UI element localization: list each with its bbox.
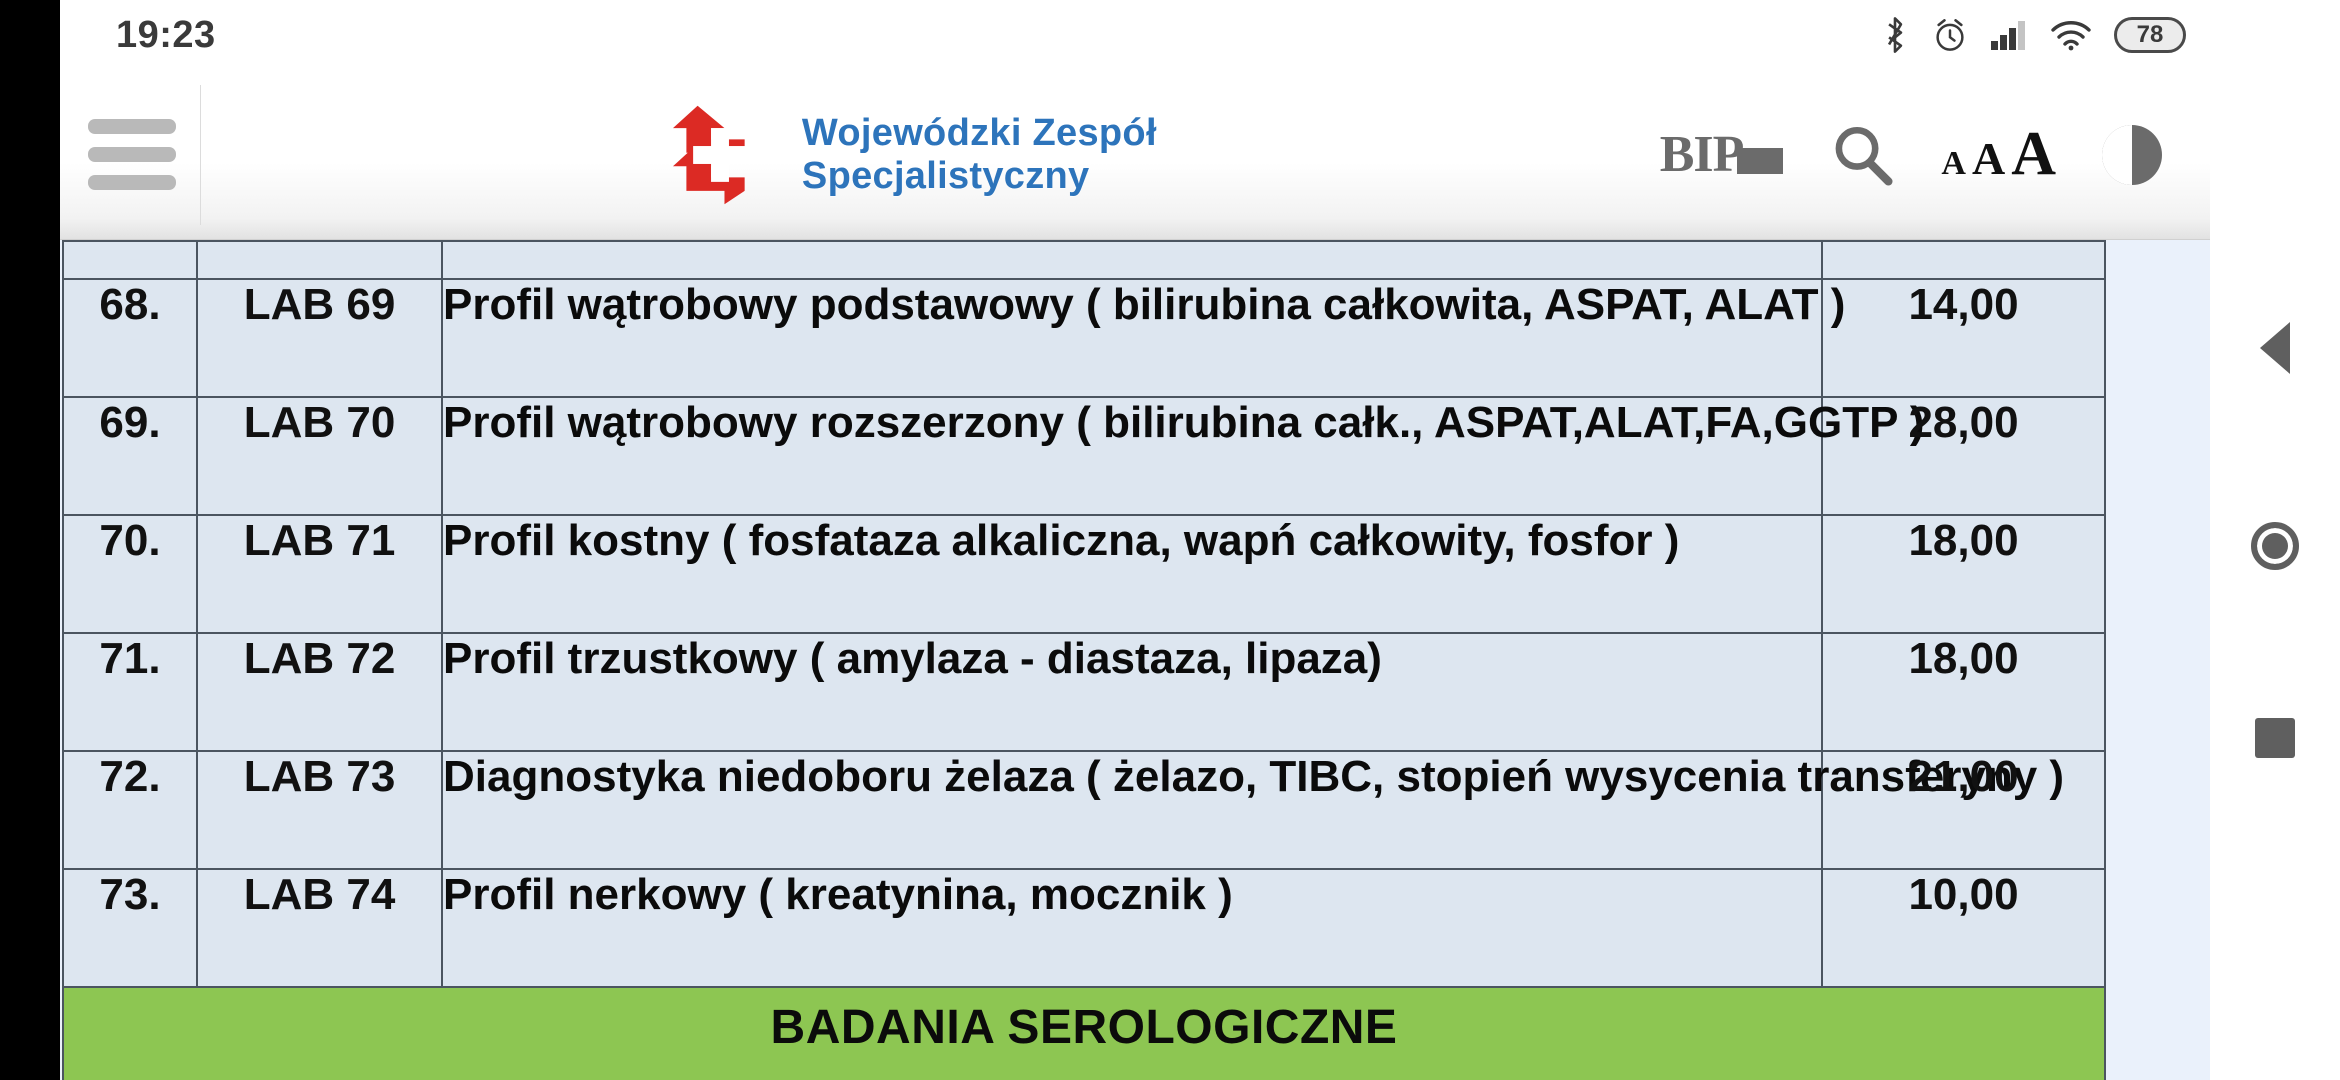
cell-cena: 10,00 [1822, 869, 2105, 987]
table-row[interactable]: 69. LAB 70 Profil wątrobowy rozszerzony … [63, 397, 2105, 515]
font-size-medium-button[interactable]: A [1972, 132, 2005, 185]
wifi-icon [2050, 19, 2092, 51]
cell-lp: 70. [63, 515, 197, 633]
cell-nazwa: Profil wątrobowy podstawowy ( bilirubina… [442, 279, 1822, 397]
status-clock: 19:23 [116, 14, 216, 57]
table-section-header: BADANIA SEROLOGICZNE [63, 987, 2105, 1080]
price-table-area: 68. LAB 69 Profil wątrobowy podstawowy (… [60, 240, 2210, 1080]
battery-icon: 78 [2114, 17, 2186, 53]
cell-cena: 14,00 [1822, 279, 2105, 397]
cell-kod: LAB 72 [197, 633, 442, 751]
bluetooth-icon [1880, 16, 1910, 54]
cell-kod: LAB 71 [197, 515, 442, 633]
cell-lp: 71. [63, 633, 197, 751]
cell-cena: 18,00 [1822, 633, 2105, 751]
cell-nazwa: Profil nerkowy ( kreatynina, mocznik ) [442, 869, 1822, 987]
back-button-icon[interactable] [2260, 322, 2290, 374]
alarm-icon [1932, 17, 1968, 53]
table-row[interactable]: 70. LAB 71 Profil kostny ( fosfataza alk… [63, 515, 2105, 633]
logo-text: Wojewódzki Zespół Specjalistyczny [802, 112, 1157, 197]
price-table-body: 68. LAB 69 Profil wątrobowy podstawowy (… [63, 241, 2105, 1080]
left-black-gutter [0, 0, 60, 1080]
table-row[interactable]: 72. LAB 73 Diagnostyka niedoboru żelaza … [63, 751, 2105, 869]
cell-lp: 68. [63, 279, 197, 397]
contrast-toggle-icon[interactable] [2102, 125, 2162, 185]
android-navigation-bar [2210, 0, 2340, 1080]
cell-nazwa: Profil wątrobowy rozszerzony ( bilirubin… [442, 397, 1822, 515]
cell-kod: LAB 70 [197, 397, 442, 515]
cell-nazwa: Diagnostyka niedoboru żelaza ( żelazo, T… [442, 751, 1822, 869]
logo-line-1: Wojewódzki Zespół [802, 112, 1157, 155]
font-size-large-button[interactable]: A [2011, 119, 2056, 190]
status-icon-tray: 78 [1880, 16, 2186, 54]
signal-icon [1990, 19, 2028, 51]
bip-link[interactable]: BIP [1660, 131, 1784, 179]
bip-bar-icon [1737, 148, 1783, 174]
site-header: Wojewódzki Zespół Specjalistyczny BIP A … [60, 70, 2210, 240]
cell-nazwa: Profil trzustkowy ( amylaza - diastaza, … [442, 633, 1822, 751]
hospital-cross-arrows-icon [664, 99, 776, 211]
screen: 19:23 [0, 0, 2340, 1080]
site-logo[interactable]: Wojewódzki Zespół Specjalistyczny [161, 99, 1660, 211]
cell-lp: 72. [63, 751, 197, 869]
table-row-partial [63, 241, 2105, 279]
cell-lp: 69. [63, 397, 197, 515]
cell-cena: 18,00 [1822, 515, 2105, 633]
browser-viewport: 19:23 [60, 0, 2210, 1080]
cell-kod: LAB 69 [197, 279, 442, 397]
bip-label: BIP [1660, 131, 1744, 179]
section-title: BADANIA SEROLOGICZNE [63, 987, 2105, 1080]
home-button-icon[interactable] [2251, 522, 2299, 570]
cell-kod: LAB 73 [197, 751, 442, 869]
table-row[interactable]: 68. LAB 69 Profil wątrobowy podstawowy (… [63, 279, 2105, 397]
header-tools: BIP A A A [1660, 119, 2162, 190]
status-bar: 19:23 [60, 0, 2210, 70]
table-row[interactable]: 73. LAB 74 Profil nerkowy ( kreatynina, … [63, 869, 2105, 987]
recents-button-icon[interactable] [2255, 718, 2295, 758]
cell-kod: LAB 74 [197, 869, 442, 987]
logo-line-2: Specjalistyczny [802, 155, 1157, 198]
price-table: 68. LAB 69 Profil wątrobowy podstawowy (… [62, 240, 2106, 1080]
cell-lp: 73. [63, 869, 197, 987]
cell-nazwa: Profil kostny ( fosfataza alkaliczna, wa… [442, 515, 1822, 633]
font-size-small-button[interactable]: A [1941, 145, 1966, 183]
search-icon[interactable] [1829, 122, 1895, 188]
font-size-controls[interactable]: A A A [1941, 119, 2056, 190]
battery-level: 78 [2137, 21, 2164, 49]
table-row[interactable]: 71. LAB 72 Profil trzustkowy ( amylaza -… [63, 633, 2105, 751]
